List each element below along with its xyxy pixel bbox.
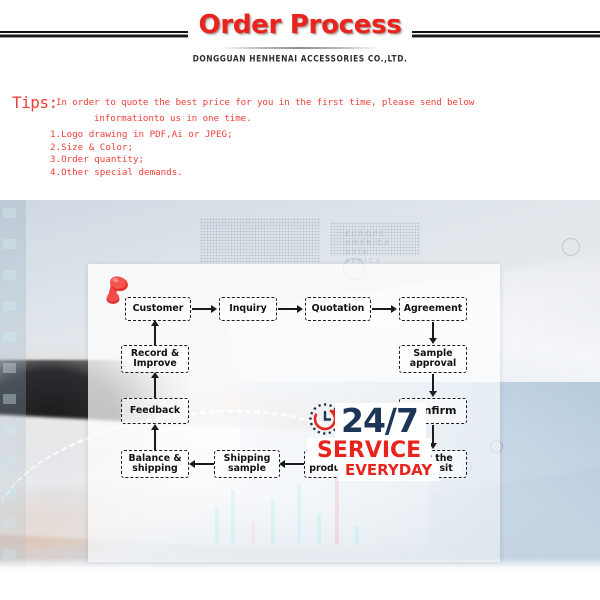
page-title: Order Process bbox=[0, 0, 600, 40]
flow-node-label: Feedback bbox=[130, 406, 180, 417]
flow-node-feedback[interactable]: Feedback bbox=[121, 398, 189, 424]
dot-map-decoration bbox=[200, 218, 320, 262]
arrow-customer-inquiry bbox=[192, 308, 212, 310]
title-block: Order Process DONGGUAN HENHENAI ACCESSOR… bbox=[0, 0, 600, 63]
tips-list: 1.Logo drawing in PDF,Ai or JPEG; 2.Size… bbox=[50, 129, 588, 179]
list-item: 1.Logo drawing in PDF,Ai or JPEG; bbox=[50, 129, 588, 142]
arrow-quotation-agreement bbox=[372, 308, 392, 310]
tips-section: Tips: In order to quote the best price f… bbox=[12, 95, 588, 179]
arrow-inquiry-quotation bbox=[278, 308, 298, 310]
tips-label: Tips: bbox=[12, 93, 58, 112]
flow-node-label: Sample approval bbox=[410, 349, 456, 370]
arrow-balance-feedback bbox=[154, 428, 156, 450]
badge-everyday: EVERYDAY bbox=[338, 461, 439, 481]
company-subtitle: DONGGUAN HENHENAI ACCESSORIES CO.,LTD. bbox=[0, 53, 600, 64]
clock-icon bbox=[562, 238, 580, 256]
tips-line-2: informationto us in one time. bbox=[94, 111, 588, 127]
arrow-shipping-balance bbox=[192, 463, 214, 465]
badge-hours: 24/7 bbox=[335, 403, 426, 439]
flow-node-label: Agreement bbox=[404, 304, 463, 315]
arrow-feedback-record bbox=[154, 376, 156, 398]
tips-body: In order to quote the best price for you… bbox=[56, 95, 588, 127]
flow-node-inquiry[interactable]: Inquiry bbox=[219, 297, 277, 321]
flow-node-label: Customer bbox=[133, 304, 184, 315]
arrow-record-customer bbox=[154, 324, 156, 345]
arrowhead-icon bbox=[429, 338, 437, 344]
flow-node-label: Record & Improve bbox=[131, 349, 179, 370]
flowchart-panel: Customer Inquiry Quotation Agreement Sam… bbox=[88, 264, 500, 562]
flow-node-sample-approval[interactable]: Sample approval bbox=[399, 345, 467, 373]
flow-node-record-improve[interactable]: Record & Improve bbox=[121, 345, 189, 373]
flow-node-shipping-sample[interactable]: Shipping sample bbox=[214, 450, 280, 478]
flow-node-agreement[interactable]: Agreement bbox=[399, 297, 467, 321]
process-photo: EUROPE AMERICA ASIA AFRICA EUROPE AMERIC… bbox=[0, 200, 600, 572]
flow-node-quotation[interactable]: Quotation bbox=[305, 297, 371, 321]
list-item: 2.Size & Color; bbox=[50, 142, 588, 155]
tips-line-1: In order to quote the best price for you… bbox=[56, 95, 588, 111]
arrowhead-icon bbox=[189, 460, 195, 468]
title-underline bbox=[220, 47, 380, 49]
list-item: 4.Other special demands. bbox=[50, 167, 588, 180]
flow-node-label: Quotation bbox=[312, 304, 365, 315]
arrowhead-icon bbox=[429, 391, 437, 397]
arrowhead-icon bbox=[297, 305, 303, 313]
arrowhead-icon bbox=[211, 305, 217, 313]
arrowhead-icon bbox=[151, 424, 159, 430]
flow-node-balance-shipping[interactable]: Balance & shipping bbox=[121, 450, 189, 478]
arrowhead-icon bbox=[391, 305, 397, 313]
service-badge: 24/7 SERVICE EVERYDAY bbox=[304, 398, 444, 486]
list-item: 3.Order quantity; bbox=[50, 154, 588, 167]
page-header: Order Process DONGGUAN HENHENAI ACCESSOR… bbox=[0, 0, 600, 80]
flow-node-customer[interactable]: Customer bbox=[125, 297, 191, 321]
flow-node-label: Shipping sample bbox=[224, 454, 271, 475]
flow-node-label: Inquiry bbox=[229, 304, 267, 315]
flow-node-label: Balance & shipping bbox=[128, 454, 181, 475]
photo-bottom-fade bbox=[0, 558, 600, 572]
arrowhead-icon bbox=[151, 320, 159, 326]
arrow-bulk-shipping bbox=[282, 463, 304, 465]
